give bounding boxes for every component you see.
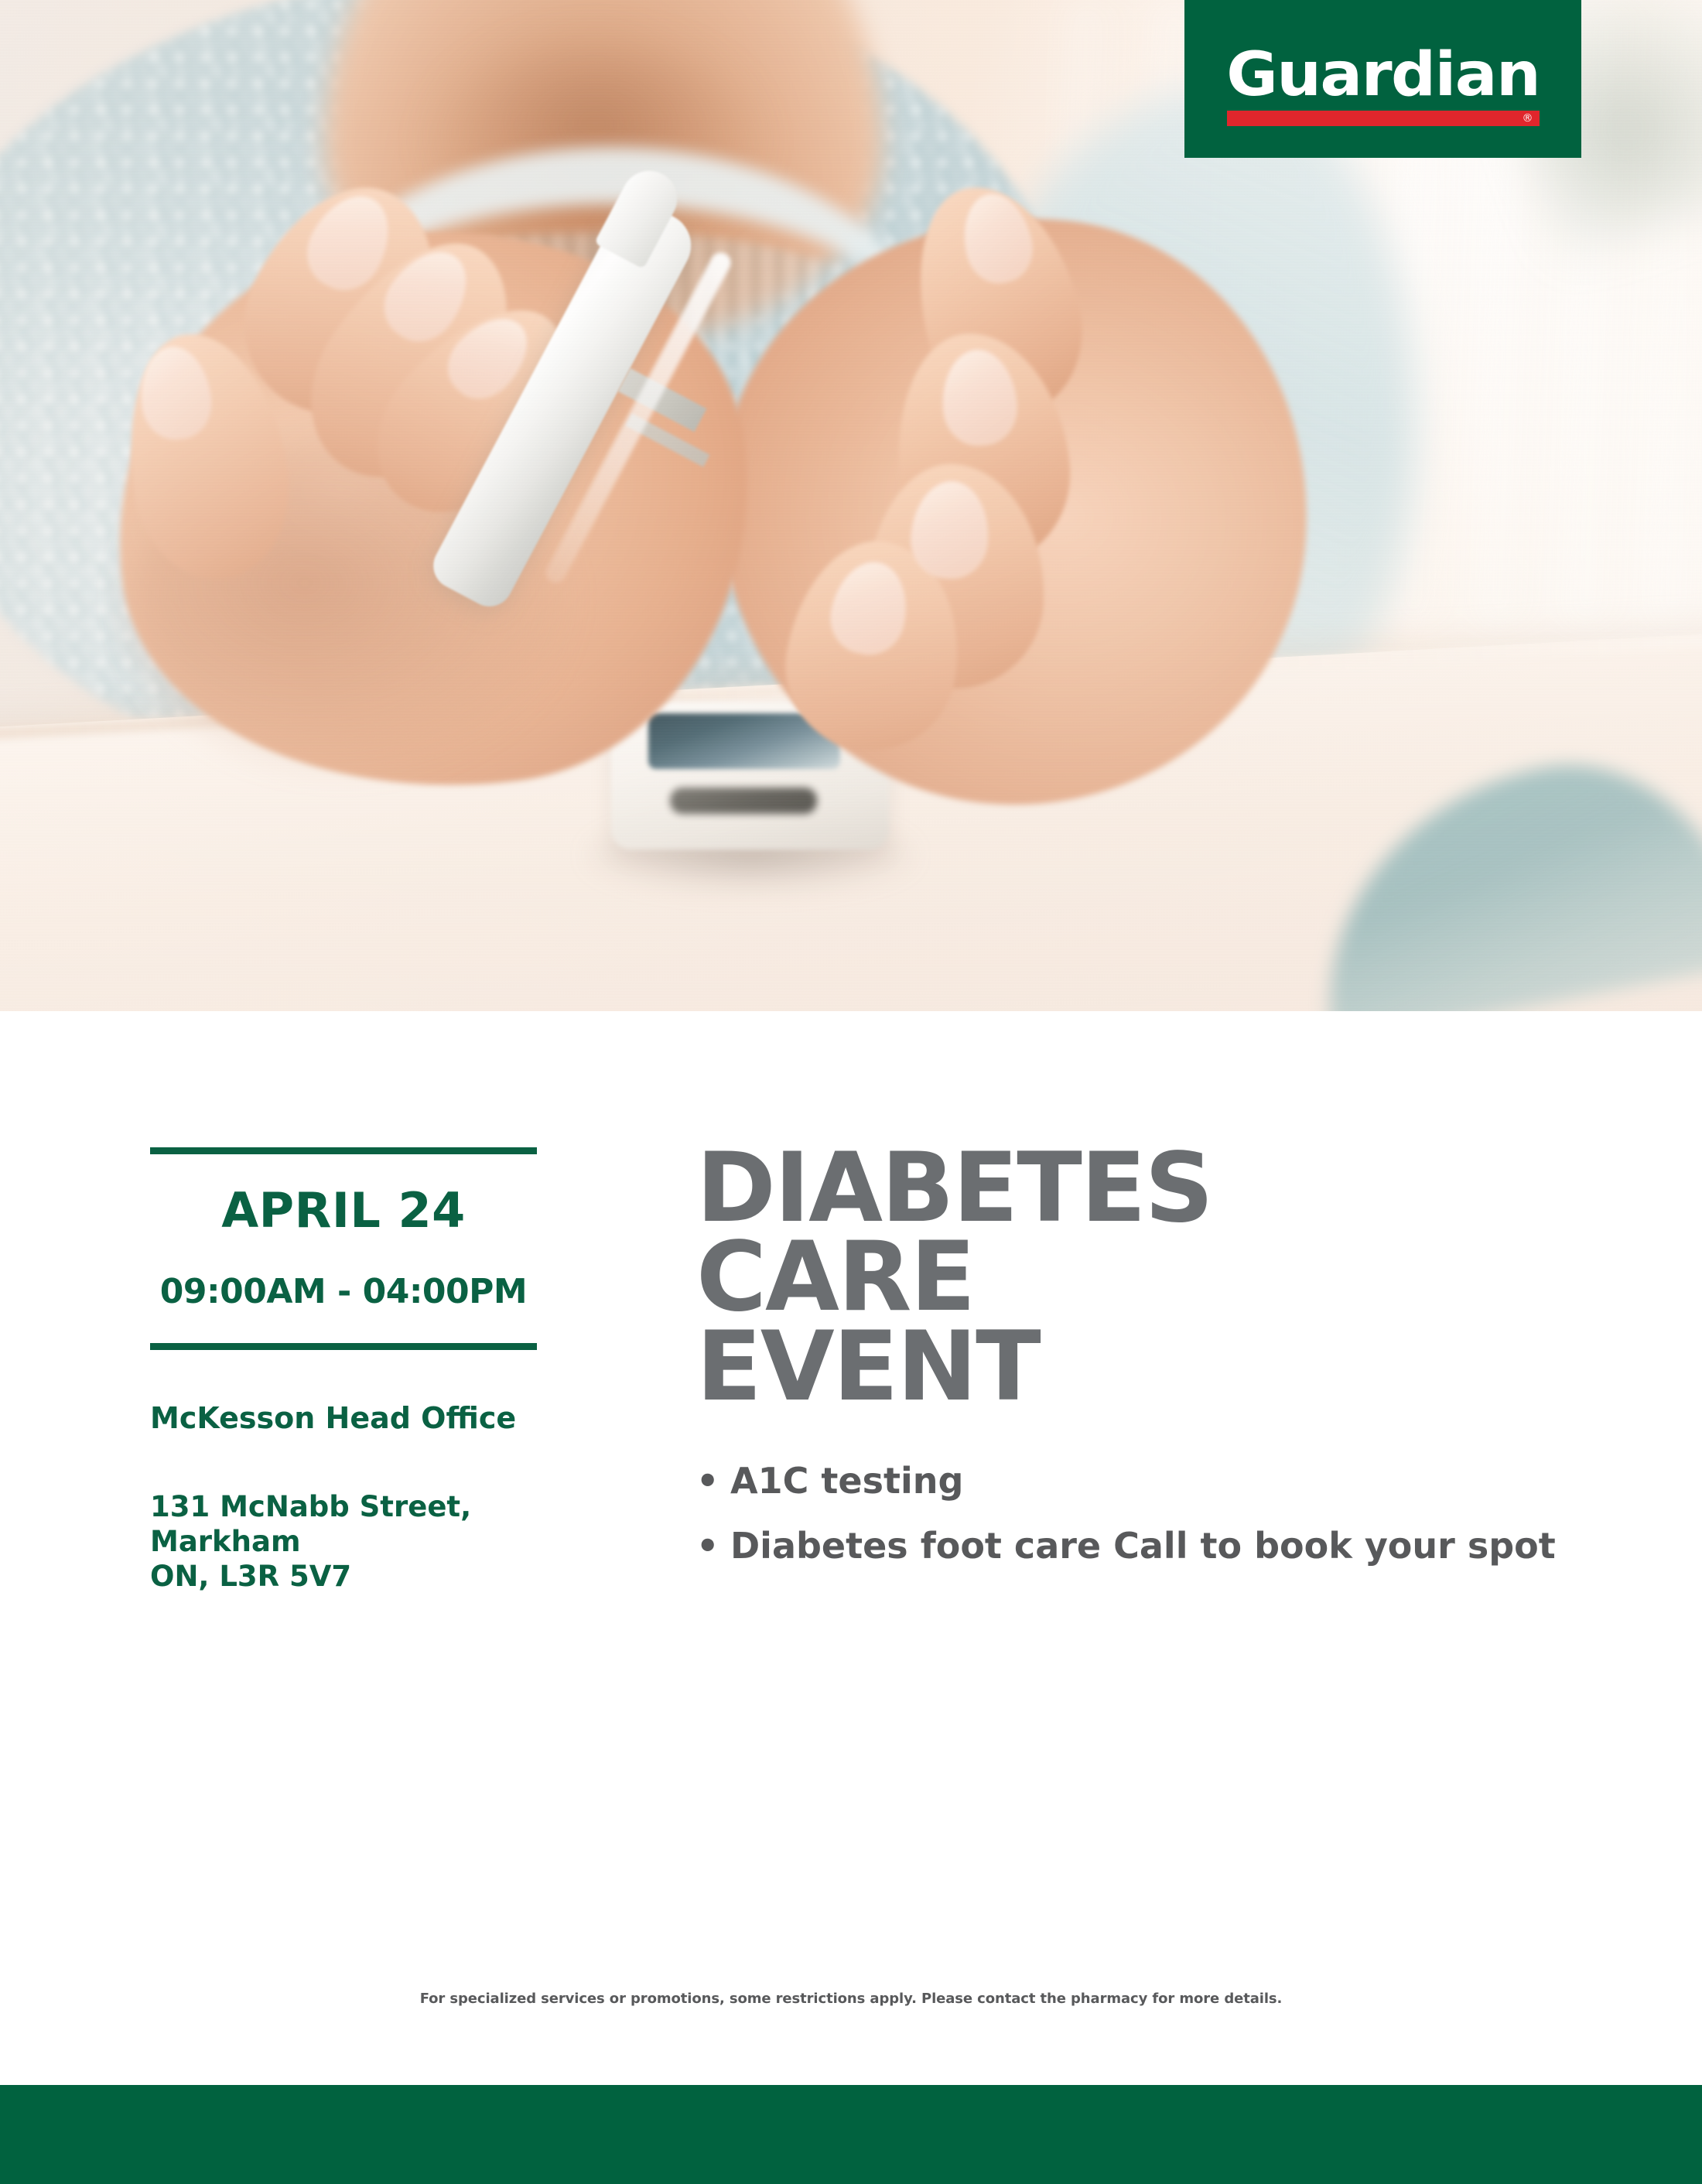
event-venue: McKesson Head Office — [150, 1403, 537, 1435]
glucose-meter-button — [670, 788, 817, 814]
registered-trademark-icon: ® — [1523, 111, 1533, 125]
bullet-icon: • — [696, 1460, 719, 1502]
event-time: 09:00AM - 04:00PM — [150, 1275, 537, 1309]
guardian-logo: Guardian ® — [1184, 0, 1581, 158]
disclaimer-text: For specialized services or promotions, … — [0, 1991, 1702, 2007]
service-label: Diabetes foot care Call to book your spo… — [730, 1525, 1556, 1567]
event-address: 131 McNabb Street, Markham ON, L3R 5V7 — [150, 1489, 537, 1594]
services-list: • A1C testing • Diabetes foot care Call … — [696, 1460, 1594, 1567]
divider-rule-bottom — [150, 1343, 537, 1350]
event-headline-column: DIABETES CARE EVENT • A1C testing • Diab… — [696, 1144, 1594, 1590]
footer-green-bar — [0, 2085, 1702, 2184]
event-date: APRIL 24 — [150, 1187, 537, 1235]
guardian-red-bar — [1227, 111, 1540, 126]
flyer-body: APRIL 24 09:00AM - 04:00PM McKesson Head… — [0, 1011, 1702, 2085]
diabetes-care-event-flyer: Guardian ® APRIL 24 09:00AM - 04:00PM Mc… — [0, 0, 1702, 2184]
event-details-column: APRIL 24 09:00AM - 04:00PM McKesson Head… — [150, 1147, 537, 1594]
service-label: A1C testing — [730, 1460, 963, 1502]
list-item: • Diabetes foot care Call to book your s… — [696, 1525, 1594, 1567]
list-item: • A1C testing — [696, 1460, 1594, 1502]
page-title: DIABETES CARE EVENT — [696, 1144, 1594, 1412]
guardian-logo-bar-wrap: ® — [1227, 111, 1540, 126]
bullet-icon: • — [696, 1525, 719, 1567]
guardian-wordmark: Guardian — [1226, 45, 1540, 105]
divider-rule-top — [150, 1147, 537, 1154]
